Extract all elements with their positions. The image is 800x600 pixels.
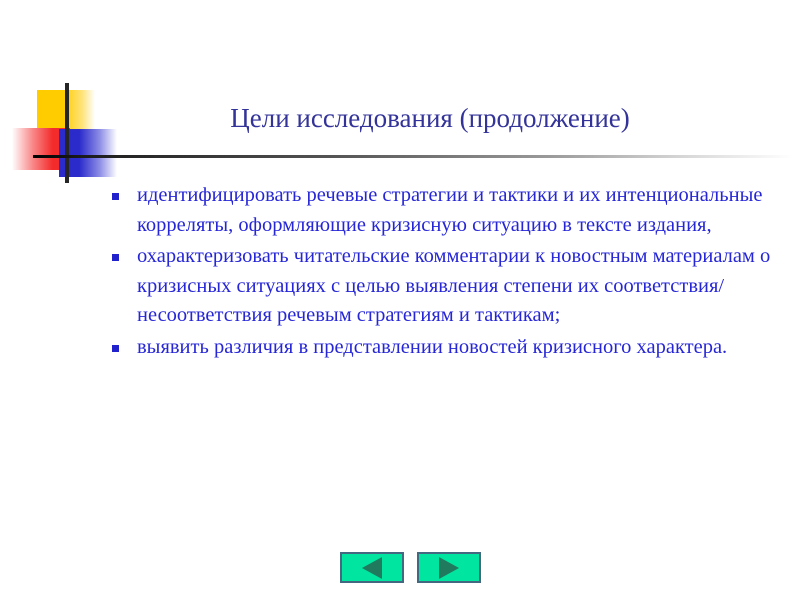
slide-title: Цели исследования (продолжение) (110, 101, 750, 135)
list-item: идентифицировать речевые стратегии и так… (112, 181, 772, 240)
list-item-text: выявить различия в представлении новосте… (137, 333, 772, 363)
vertical-rule-icon (65, 83, 69, 183)
triangle-left-icon (362, 557, 382, 579)
square-bullet-icon (112, 193, 119, 200)
list-item: охарактеризовать читательские комментари… (112, 242, 772, 331)
blue-square-icon (59, 129, 117, 177)
slide-navigation (340, 552, 481, 583)
square-bullet-icon (112, 254, 119, 261)
red-square-icon (12, 128, 70, 170)
previous-slide-button[interactable] (340, 552, 404, 583)
decorative-logo-graphic (0, 0, 140, 200)
list-item: выявить различия в представлении новосте… (112, 333, 772, 363)
bullet-list: идентифицировать речевые стратегии и так… (112, 181, 772, 364)
list-item-text: идентифицировать речевые стратегии и так… (137, 181, 772, 240)
triangle-right-icon (439, 557, 459, 579)
horizontal-divider (33, 155, 793, 158)
presentation-slide: Цели исследования (продолжение) идентифи… (0, 0, 800, 600)
bullet-marker (112, 333, 137, 352)
next-slide-button[interactable] (417, 552, 481, 583)
bullet-marker (112, 242, 137, 261)
bullet-marker (112, 181, 137, 200)
square-bullet-icon (112, 345, 119, 352)
yellow-square-icon (37, 90, 95, 136)
list-item-text: охарактеризовать читательские комментари… (137, 242, 772, 331)
